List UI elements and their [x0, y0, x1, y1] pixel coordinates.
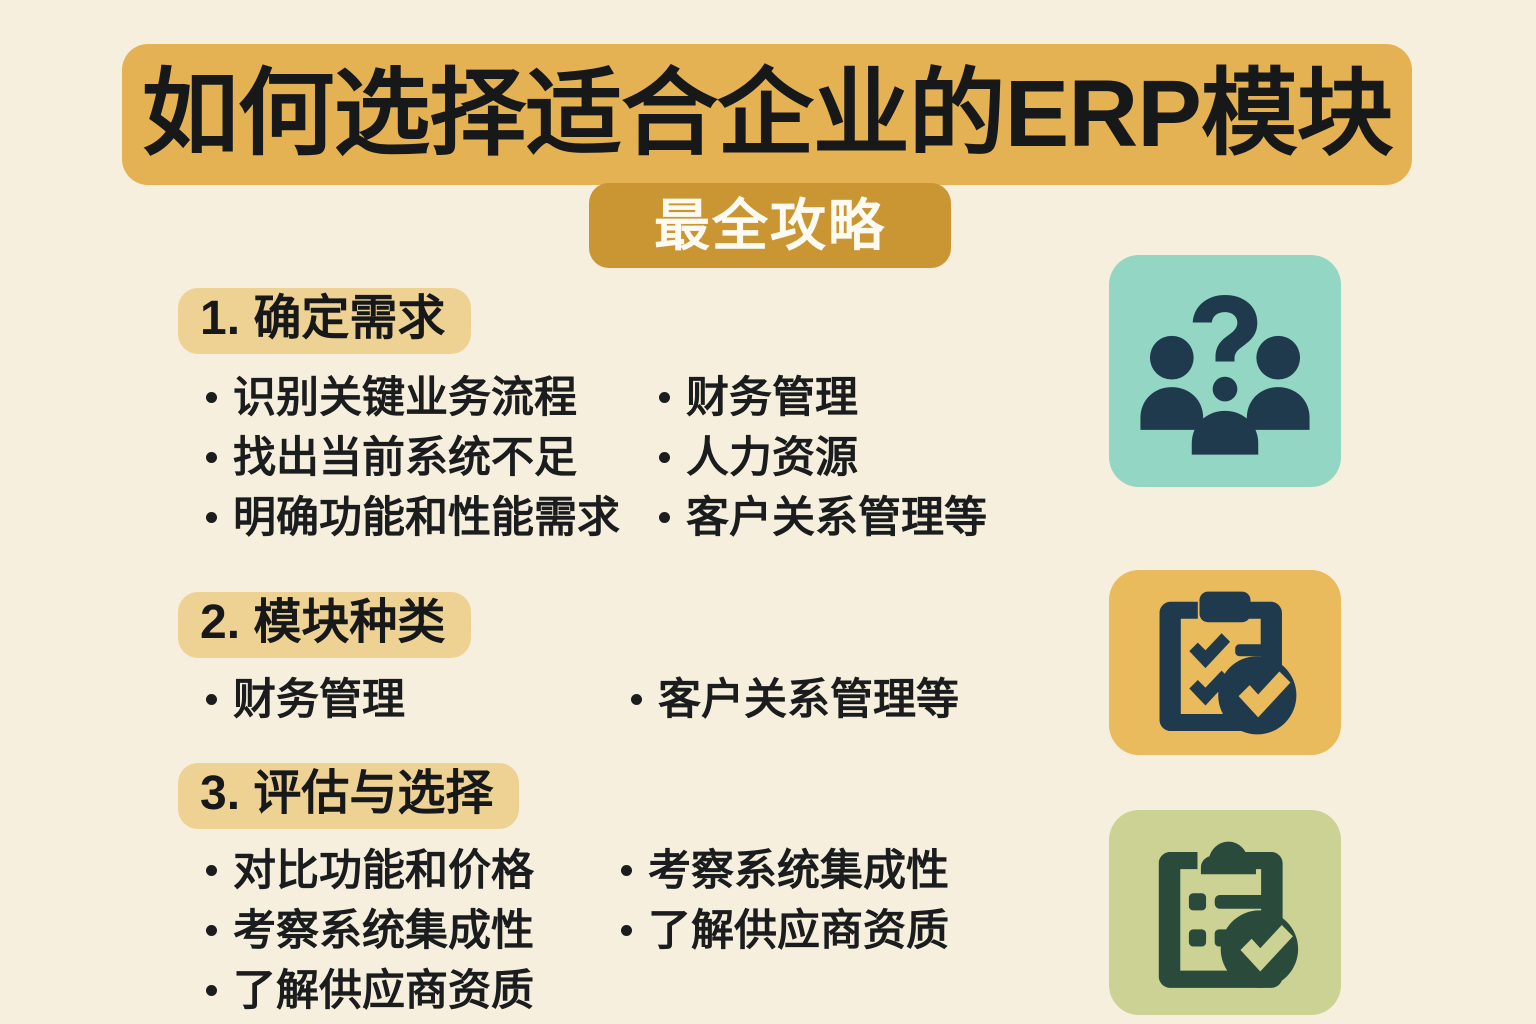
list-item: 考察系统集成性 — [621, 843, 949, 900]
list-item-label: 财务管理 — [233, 672, 405, 729]
bullet-dot-icon — [659, 512, 670, 523]
section-2-title: 2. 模块种类 — [200, 599, 445, 647]
page-title: 如何选择适合企业的ERP模块 — [142, 67, 1393, 162]
subtitle-pill: 最全攻略 — [589, 183, 951, 268]
section-2-right-column: 客户关系管理等 — [631, 672, 959, 732]
list-item-label: 考察系统集成性 — [233, 903, 534, 960]
list-item: 识别关键业务流程 — [206, 370, 659, 427]
list-item-label: 人力资源 — [686, 430, 858, 487]
clipboard-check-amber-glyph — [1140, 588, 1310, 738]
infographic-poster: 如何选择适合企业的ERP模块 最全攻略 1. 确定需求 识别关键业务流程 找出当… — [0, 0, 1536, 1024]
section-2: 2. 模块种类 财务管理 客户关系管理等 — [178, 592, 959, 732]
bullet-dot-icon — [621, 925, 632, 936]
list-item: 明确功能和性能需求 — [206, 490, 659, 547]
title-banner: 如何选择适合企业的ERP模块 — [122, 44, 1412, 185]
list-item-label: 对比功能和价格 — [233, 843, 534, 900]
list-item: 找出当前系统不足 — [206, 430, 659, 487]
list-item: 财务管理 — [659, 370, 987, 427]
bullet-dot-icon — [631, 694, 642, 705]
bullet-dot-icon — [659, 452, 670, 463]
bullet-dot-icon — [206, 392, 217, 403]
section-3-columns: 对比功能和价格 考察系统集成性 了解供应商资质 考察系统集成性 — [178, 843, 949, 1023]
section-3-left-column: 对比功能和价格 考察系统集成性 了解供应商资质 — [206, 843, 621, 1023]
people-question-glyph — [1130, 276, 1320, 466]
list-item-label: 找出当前系统不足 — [233, 430, 577, 487]
list-item-label: 财务管理 — [686, 370, 858, 427]
list-item-label: 客户关系管理等 — [658, 672, 959, 729]
section-2-pill: 2. 模块种类 — [178, 592, 471, 658]
section-2-columns: 财务管理 客户关系管理等 — [178, 672, 959, 732]
list-item: 对比功能和价格 — [206, 843, 621, 900]
people-question-icon — [1109, 255, 1341, 487]
section-1-title: 1. 确定需求 — [200, 295, 445, 343]
bullet-dot-icon — [206, 694, 217, 705]
list-item: 了解供应商资质 — [206, 963, 621, 1020]
bullet-dot-icon — [659, 392, 670, 403]
list-item: 财务管理 — [206, 672, 631, 729]
section-3-title: 3. 评估与选择 — [200, 770, 493, 818]
list-item: 人力资源 — [659, 430, 987, 487]
list-item-label: 考察系统集成性 — [648, 843, 949, 900]
bullet-dot-icon — [206, 452, 217, 463]
section-1: 1. 确定需求 识别关键业务流程 找出当前系统不足 明确功能和性能需求 — [178, 288, 987, 550]
bullet-dot-icon — [206, 925, 217, 936]
list-item: 考察系统集成性 — [206, 903, 621, 960]
section-1-pill: 1. 确定需求 — [178, 288, 471, 354]
section-1-left-column: 识别关键业务流程 找出当前系统不足 明确功能和性能需求 — [206, 370, 659, 550]
section-3-pill: 3. 评估与选择 — [178, 763, 519, 829]
section-2-left-column: 财务管理 — [206, 672, 631, 732]
list-item: 客户关系管理等 — [631, 672, 959, 729]
bullet-dot-icon — [206, 985, 217, 996]
section-3-right-column: 考察系统集成性 了解供应商资质 — [621, 843, 949, 1023]
list-item-label: 识别关键业务流程 — [233, 370, 577, 427]
section-3: 3. 评估与选择 对比功能和价格 考察系统集成性 了解供应商资质 — [178, 763, 949, 1023]
page-subtitle: 最全攻略 — [654, 198, 886, 254]
clipboard-check-sage-icon — [1109, 810, 1341, 1015]
list-item-label: 明确功能和性能需求 — [233, 490, 620, 547]
clipboard-check-amber-icon — [1109, 570, 1341, 755]
list-item-label: 客户关系管理等 — [686, 490, 987, 547]
section-1-columns: 识别关键业务流程 找出当前系统不足 明确功能和性能需求 财务管理 — [178, 370, 987, 550]
bullet-dot-icon — [206, 865, 217, 876]
section-1-right-column: 财务管理 人力资源 客户关系管理等 — [659, 370, 987, 550]
list-item-label: 了解供应商资质 — [648, 903, 949, 960]
bullet-dot-icon — [621, 865, 632, 876]
list-item: 了解供应商资质 — [621, 903, 949, 960]
clipboard-check-sage-glyph — [1139, 833, 1311, 993]
bullet-dot-icon — [206, 512, 217, 523]
list-item: 客户关系管理等 — [659, 490, 987, 547]
list-item-label: 了解供应商资质 — [233, 963, 534, 1020]
